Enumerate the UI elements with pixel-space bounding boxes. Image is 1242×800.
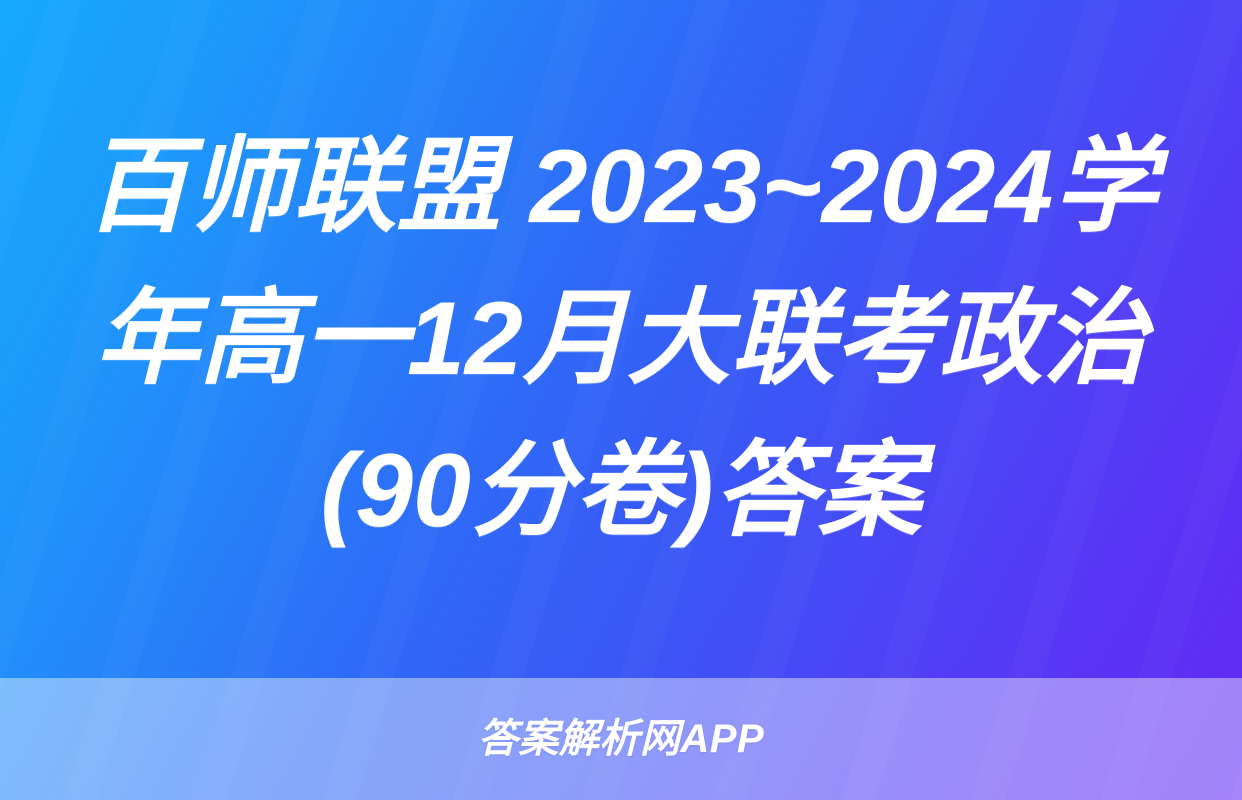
exam-answer-cover-card: 百师联盟 2023~2024学年高一12月大联考政治(90分卷)答案 答案解析网… [0, 0, 1242, 800]
cover-title-block: 百师联盟 2023~2024学年高一12月大联考政治(90分卷)答案 [0, 0, 1242, 678]
page-title: 百师联盟 2023~2024学年高一12月大联考政治(90分卷)答案 [68, 111, 1174, 567]
app-brand-label: 答案解析网APP [478, 717, 764, 761]
footer-brand-band: 答案解析网APP [0, 678, 1242, 800]
